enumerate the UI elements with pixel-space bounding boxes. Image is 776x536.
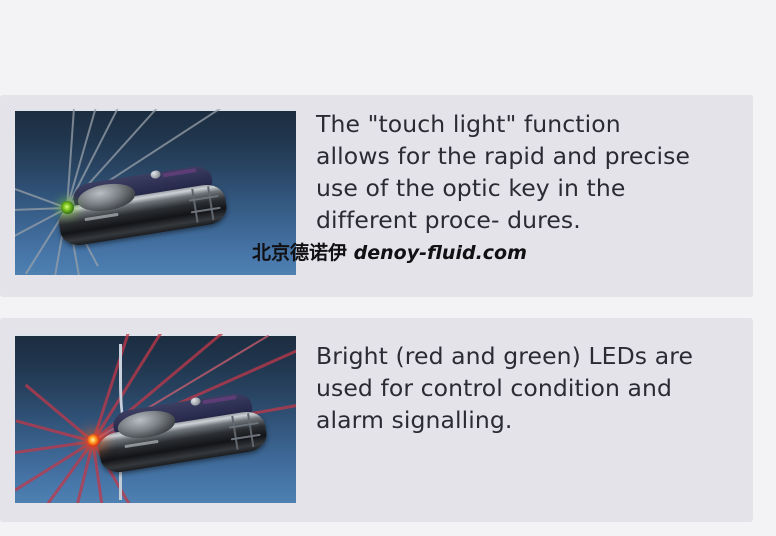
copy-line: alarm signalling. [316, 404, 746, 436]
feature-panel-touch-light: The "touch light" function allows for th… [0, 95, 753, 297]
copy-line: Bright (red and green) LEDs are [316, 340, 746, 372]
watermark: 北京德诺伊 denoy-fluid.com [252, 238, 527, 265]
feature-description-led-signalling: Bright (red and green) LEDs are used for… [316, 340, 746, 436]
feature-panel-led-signalling: Bright (red and green) LEDs are used for… [0, 318, 753, 522]
optic-key-device-red-led-photo [15, 334, 296, 503]
watermark-chinese-text: 北京德诺伊 [252, 242, 347, 264]
feature-panel-inner: Bright (red and green) LEDs are used for… [0, 318, 753, 522]
copy-line: allows for the rapid and precise [316, 140, 746, 172]
copy-line: use of the optic key in the [316, 172, 746, 204]
copy-line: used for control condition and [316, 372, 746, 404]
feature-panel-inner: The "touch light" function allows for th… [0, 95, 753, 297]
copy-line: different proce- dures. [316, 204, 746, 236]
page-root: The "touch light" function allows for th… [0, 0, 776, 536]
copy-line: The "touch light" function [316, 108, 746, 140]
green-led-indicator [61, 201, 74, 214]
photo-top-edge [15, 334, 296, 336]
red-led-indicator [87, 434, 100, 447]
watermark-domain-text: denoy-fluid.com [354, 242, 527, 264]
feature-description-touch-light: The "touch light" function allows for th… [316, 108, 746, 236]
